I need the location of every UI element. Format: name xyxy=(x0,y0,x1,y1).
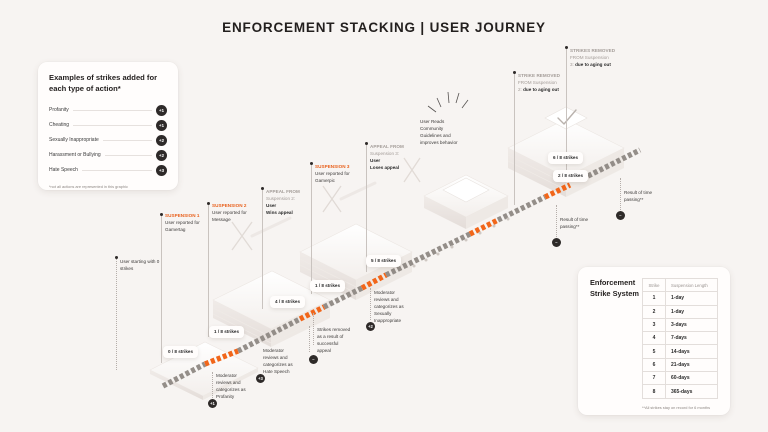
callout-heading: STRIKES REMOVED xyxy=(570,47,630,54)
strike-counter-6: 6 / 8 strikes xyxy=(548,152,583,164)
legend-rule xyxy=(103,140,152,141)
legend-label: Profanity xyxy=(49,107,69,113)
legend-row-cheating: Cheating +1 xyxy=(49,118,167,132)
callout-sub: User reported for xyxy=(165,219,217,226)
callout-line-1: Result of time xyxy=(560,216,606,223)
legend-row-sexually-inappropriate: Sexually Inappropriate +2 xyxy=(49,133,167,147)
legend-rule xyxy=(73,110,152,111)
cell-strike: 6 xyxy=(643,358,666,371)
legend-strike-badge: +1 xyxy=(156,120,167,131)
legend-row-profanity: Profanity +1 xyxy=(49,103,167,117)
callout-suspension-number: 3: xyxy=(570,62,574,67)
cell-strike: 2 xyxy=(643,305,666,318)
leader-line-appeal-removal xyxy=(313,313,314,345)
callout-strikes-removed-suspension-3: STRIKES REMOVED FROM Suspension 3: due t… xyxy=(570,47,630,68)
strike-system-table: Strike Suspension Length 1 1-day 2 1-day… xyxy=(642,278,718,399)
strike-badge-time-passing-1: − xyxy=(552,238,561,247)
callout-line-2: reviews and xyxy=(374,296,422,303)
callout-suspension-number: 2: xyxy=(518,87,522,92)
callout-time-passing-2: Result of time passing** xyxy=(624,189,670,203)
table-header-row: Strike Suspension Length xyxy=(643,279,718,292)
callout-line-4: improves behavior xyxy=(420,139,472,146)
table-row: 5 14-days xyxy=(643,345,718,358)
callout-suspension-2: SUSPENSION 2 User reported for Message xyxy=(212,202,264,223)
legend-strike-badge: +2 xyxy=(156,150,167,161)
callout-line-3: Guidelines and xyxy=(420,132,472,139)
callout-time-passing-1: Result of time passing** xyxy=(560,216,606,230)
legend-rule xyxy=(105,155,152,156)
callout-heading: APPEAL FROM xyxy=(266,188,316,195)
leader-line-start xyxy=(116,258,117,370)
strike-badge-sexually-inappropriate: +2 xyxy=(366,322,375,331)
callout-body: 3: due to aging out xyxy=(570,61,630,68)
cell-length: 1-day xyxy=(666,305,718,318)
legend-rule xyxy=(82,170,152,171)
callout-line-3: categorizes as xyxy=(374,303,422,310)
callout-body: Message xyxy=(212,216,264,223)
callout-strike-removed-suspension-2: STRIKE REMOVED FROM Suspension 2: due to… xyxy=(518,72,574,93)
cell-strike: 8 xyxy=(643,385,666,398)
cell-strike: 7 xyxy=(643,372,666,385)
legend-rule xyxy=(73,125,152,126)
strike-examples-legend: Examples of strikes added for each type … xyxy=(38,62,178,190)
counter-text: 5 / 8 strikes xyxy=(371,258,396,263)
strike-counter-2: 2 / 8 strikes xyxy=(553,170,588,182)
strike-badge-time-passing-2: − xyxy=(616,211,625,220)
callout-body: 2: due to aging out xyxy=(518,86,574,93)
callout-line-4: Hate Speech xyxy=(263,368,311,375)
legend-label: Hate Speech xyxy=(49,167,78,173)
column-header-strike: Strike xyxy=(643,279,666,292)
strike-counter-4: 4 / 8 strikes xyxy=(270,296,305,308)
callout-line-3: categorizes as xyxy=(263,361,311,368)
legend-strike-badge: +3 xyxy=(156,165,167,176)
counter-text: 1 / 8 strikes xyxy=(214,329,239,334)
legend-row-hate-speech: Hate Speech +3 xyxy=(49,163,167,177)
table-row: 8 365-days xyxy=(643,385,718,398)
counter-text: 2 / 8 strikes xyxy=(558,173,583,178)
callout-line-1: User Reads xyxy=(420,118,472,125)
cell-length: 7-days xyxy=(666,332,718,345)
callout-appeal-from-suspension-3: APPEAL FROM Suspension 3: User Loses app… xyxy=(370,143,420,171)
strike-system-footnote: **All strikes stay on record for 6 month… xyxy=(642,405,718,411)
callout-appeal-from-suspension-2: APPEAL FROM Suspension 2: User Wins appe… xyxy=(266,188,316,216)
callout-line-4: appeal xyxy=(317,347,365,354)
infographic-canvas: ENFORCEMENT STACKING | USER JOURNEY xyxy=(0,0,768,432)
callout-line-4: Profanity xyxy=(216,393,264,400)
strike-badge-profanity: +1 xyxy=(208,399,217,408)
strike-counter-1: 1 / 8 strikes xyxy=(209,326,244,338)
callout-moderator-sexually-inappropriate: Moderator reviews and categorizes as Sex… xyxy=(374,289,422,325)
cell-length: 365-days xyxy=(666,385,718,398)
callout-suspension-1: SUSPENSION 1 User reported for Gamertag xyxy=(165,212,217,233)
legend-strike-badge: +2 xyxy=(156,135,167,146)
callout-suspension-3: SUSPENSION 3 User reported for Gamerpic xyxy=(315,163,367,184)
leader-line-suspension-3 xyxy=(311,164,312,294)
counter-text: 6 / 8 strikes xyxy=(553,155,578,160)
callout-line-1: Strikes removed xyxy=(317,326,365,333)
table-row: 7 60-days xyxy=(643,372,718,385)
callout-line-2: Community xyxy=(420,125,472,132)
callout-body: Gamerpic xyxy=(315,177,367,184)
cell-length: 1-day xyxy=(666,292,718,305)
callout-line-1: Result of time xyxy=(624,189,670,196)
table-row: 1 1-day xyxy=(643,292,718,305)
callout-text: User starting with 0 strikes xyxy=(120,259,159,271)
callout-line-5: Inappropriate xyxy=(374,317,422,324)
legend-label: Cheating xyxy=(49,122,69,128)
enforcement-strike-system-card: Enforcement Strike System Strike Suspens… xyxy=(578,267,730,415)
callout-sub: Suspension 3: xyxy=(370,150,420,157)
callout-moderator-hate-speech: Moderator reviews and categorizes as Hat… xyxy=(263,347,311,375)
callout-sub: User reported for xyxy=(315,170,367,177)
callout-sub: FROM Suspension xyxy=(518,79,574,86)
callout-reason: due to aging out xyxy=(523,87,559,92)
callout-line-3: successful xyxy=(317,340,365,347)
callout-sub: User reported for xyxy=(212,209,264,216)
table-row: 4 7-days xyxy=(643,332,718,345)
callout-line-2: passing** xyxy=(624,196,670,203)
callout-heading: SUSPENSION 3 xyxy=(315,163,367,170)
counter-text: 1 / 8 strikes xyxy=(315,283,340,288)
callout-sub: FROM Suspension xyxy=(570,54,630,61)
callout-line-1: User xyxy=(266,202,316,209)
cell-length: 3-days xyxy=(666,318,718,331)
cell-length: 14-days xyxy=(666,345,718,358)
callout-heading: STRIKE REMOVED xyxy=(518,72,574,79)
callout-line-4: Sexually xyxy=(374,310,422,317)
leader-line-moderator-3 xyxy=(370,288,371,320)
callout-sub: Suspension 2: xyxy=(266,195,316,202)
callout-strikes-removed-appeal: Strikes removed as a result of successfu… xyxy=(317,326,365,354)
callout-user-reads-guidelines: User Reads Community Guidelines and impr… xyxy=(420,118,472,146)
counter-text: 0 / 8 strikes xyxy=(168,349,193,354)
callout-body: Gamertag xyxy=(165,226,217,233)
callout-line-1: User xyxy=(370,157,420,164)
callout-line-1: Moderator xyxy=(374,289,422,296)
callout-line-2: passing** xyxy=(560,223,606,230)
callout-line-2: Wins appeal xyxy=(266,209,316,216)
callout-user-start: User starting with 0 strikes xyxy=(120,258,172,272)
cell-length: 60-days xyxy=(666,372,718,385)
callout-line-2: reviews and xyxy=(263,354,311,361)
legend-label: Harassment or Bullying xyxy=(49,152,101,158)
callout-line-1: Moderator xyxy=(263,347,311,354)
table-row: 3 3-days xyxy=(643,318,718,331)
cell-length: 21-days xyxy=(666,358,718,371)
cell-strike: 5 xyxy=(643,345,666,358)
strike-counter-5: 5 / 8 strikes xyxy=(366,255,401,267)
legend-heading: Examples of strikes added for each type … xyxy=(49,72,167,94)
legend-strike-badge: +1 xyxy=(156,105,167,116)
strike-counter-1-after-appeal: 1 / 8 strikes xyxy=(310,280,345,292)
callout-line-3: categorizes as xyxy=(216,386,264,393)
leader-line-moderator-1 xyxy=(212,372,213,398)
legend-label: Sexually Inappropriate xyxy=(49,137,99,143)
table-row: 2 1-day xyxy=(643,305,718,318)
strike-system-title: Enforcement Strike System xyxy=(590,278,642,404)
strike-system-table-wrap: Strike Suspension Length 1 1-day 2 1-day… xyxy=(642,278,718,404)
leader-line-strike-removed-2 xyxy=(514,73,515,205)
strike-badge-hate-speech: +3 xyxy=(256,374,265,383)
strike-badge-appeal-removal: − xyxy=(309,355,318,364)
legend-footnote: *not all actions are represented in this… xyxy=(49,184,167,189)
callout-heading: APPEAL FROM xyxy=(370,143,420,150)
callout-line-2: as a result of xyxy=(317,333,365,340)
cell-strike: 4 xyxy=(643,332,666,345)
table-row: 6 21-days xyxy=(643,358,718,371)
callout-heading: SUSPENSION 1 xyxy=(165,212,217,219)
cell-strike: 1 xyxy=(643,292,666,305)
cell-strike: 3 xyxy=(643,318,666,331)
strike-counter-0: 0 / 8 strikes xyxy=(163,346,198,358)
callout-line-2: Loses appeal xyxy=(370,164,420,171)
leader-line-suspension-1 xyxy=(161,215,162,363)
callout-heading: SUSPENSION 2 xyxy=(212,202,264,209)
column-header-suspension-length: Suspension Length xyxy=(666,279,718,292)
callout-reason: due to aging out xyxy=(575,62,611,67)
counter-text: 4 / 8 strikes xyxy=(275,299,300,304)
legend-row-harassment: Harassment or Bullying +2 xyxy=(49,148,167,162)
